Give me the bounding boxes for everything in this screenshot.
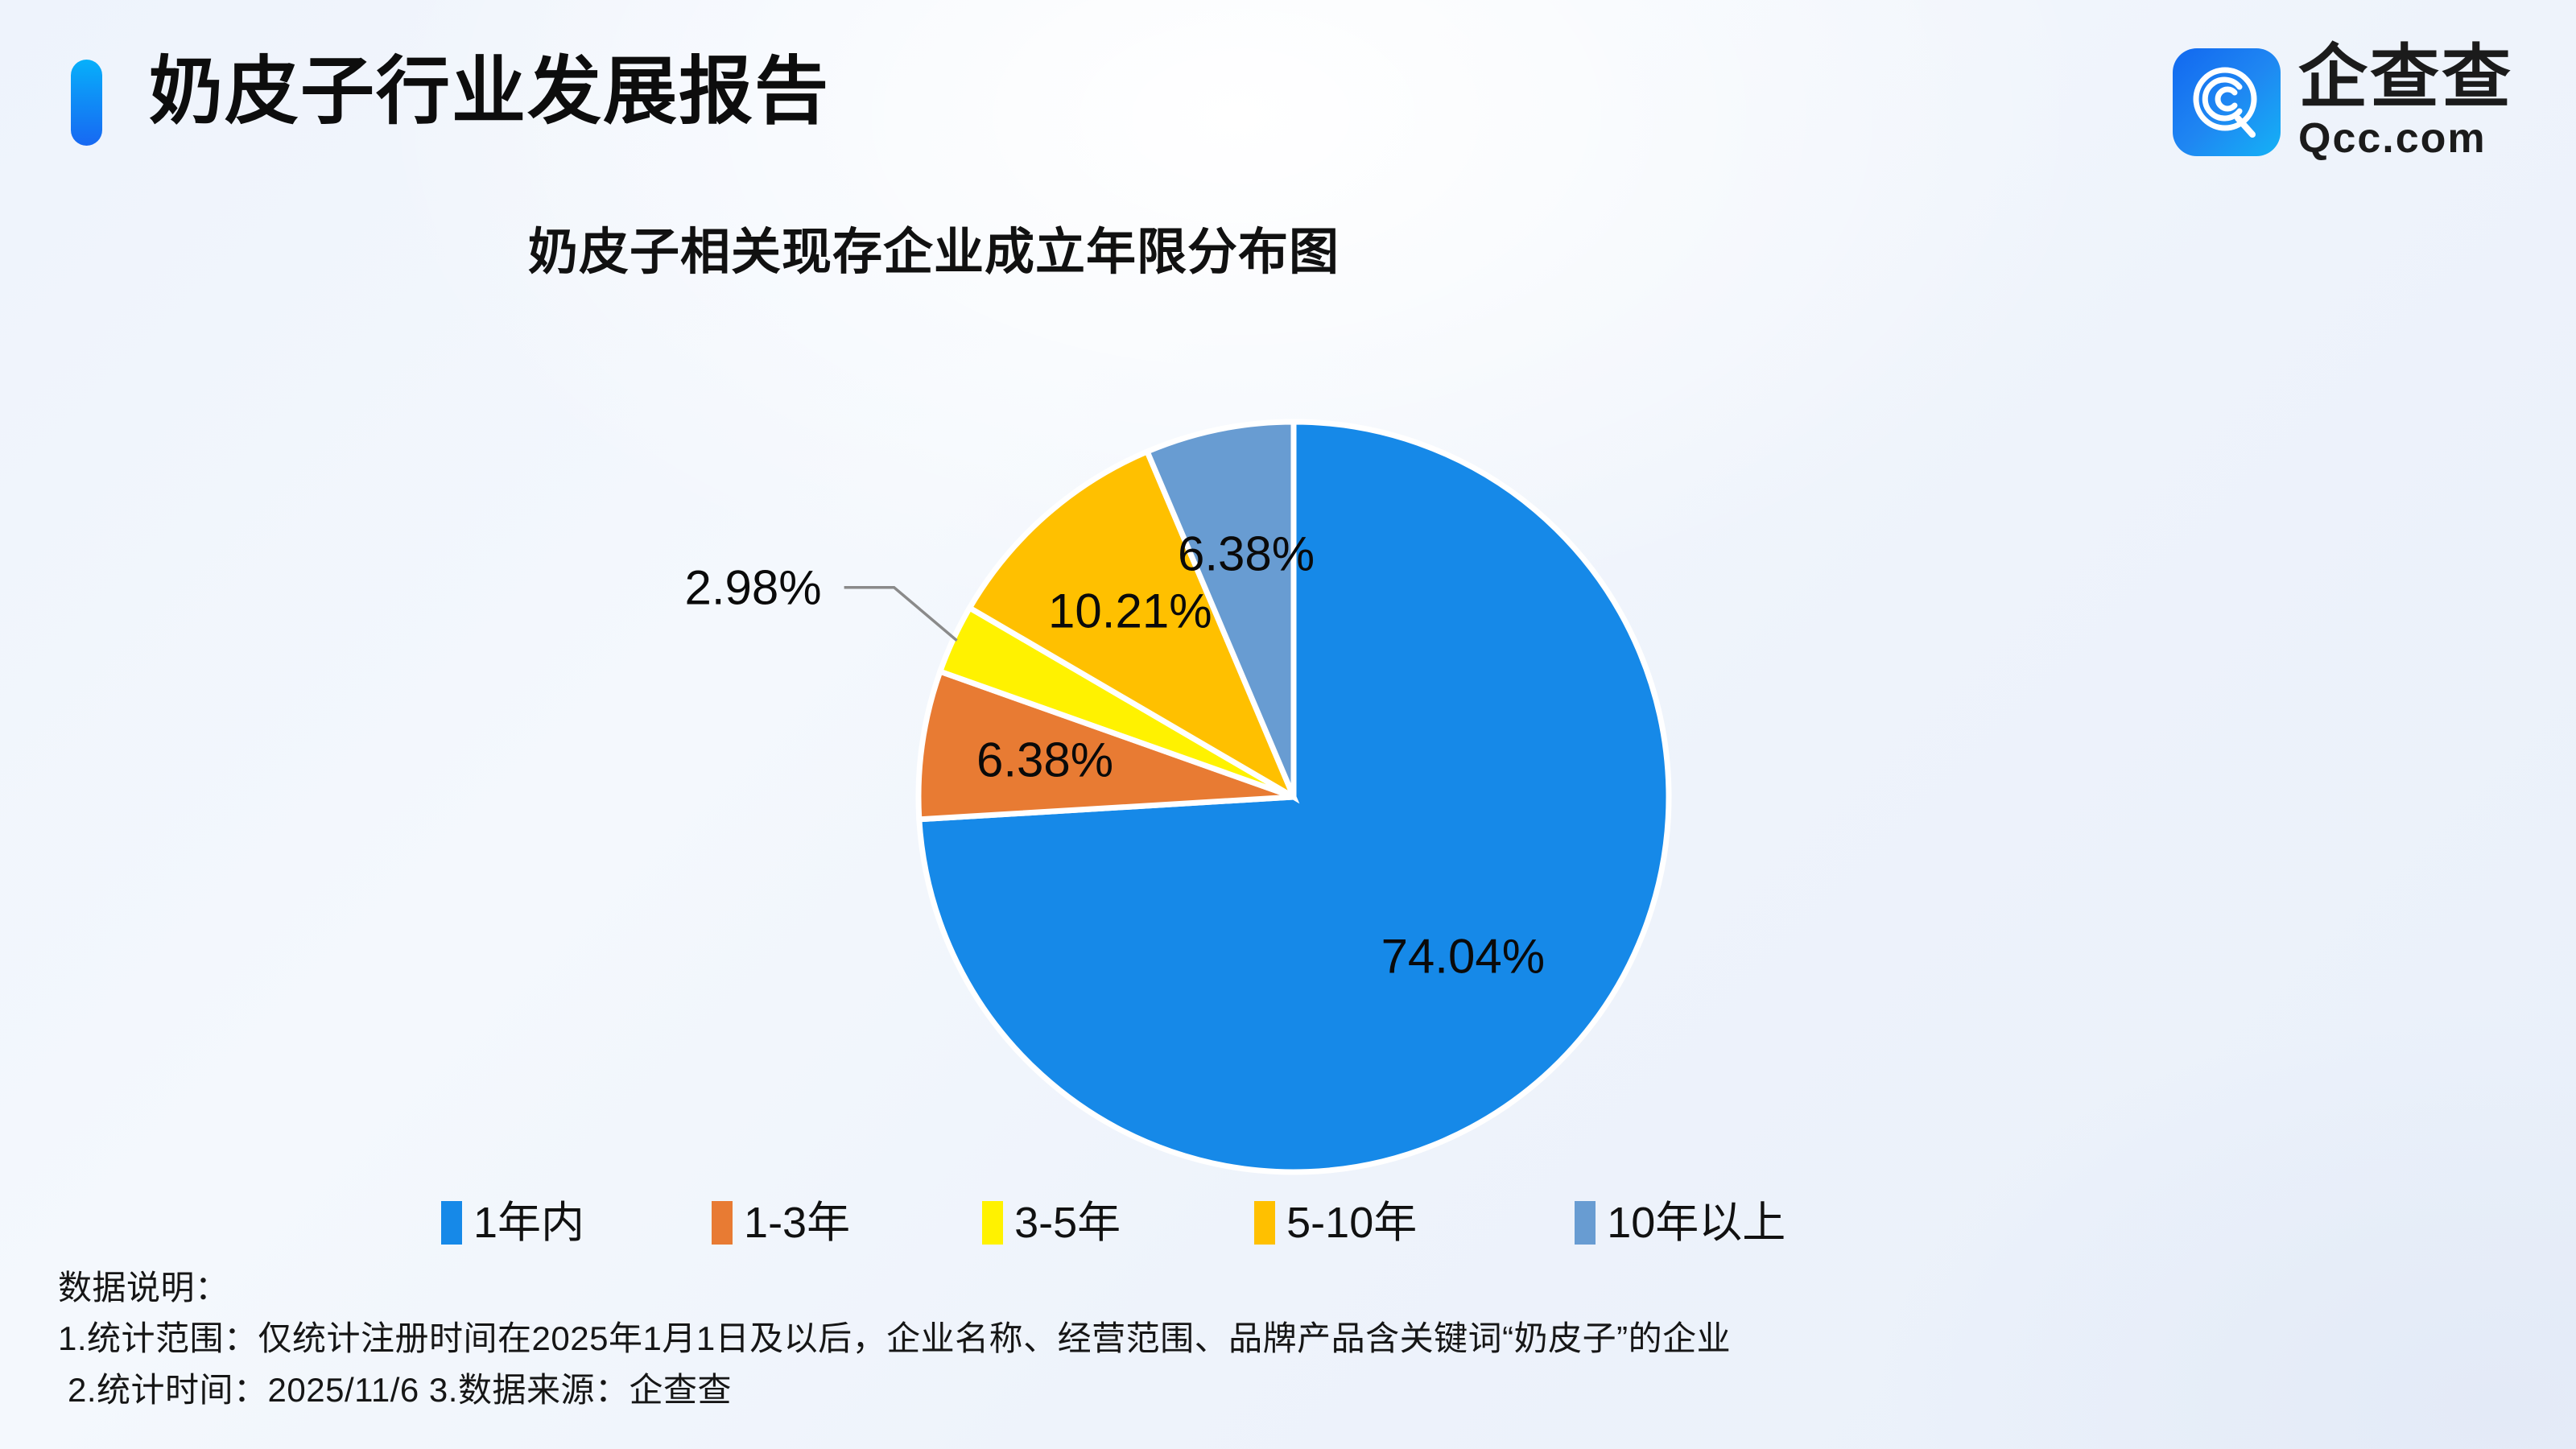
notes-heading: 数据说明： — [58, 1262, 2473, 1313]
legend-swatch-icon — [1254, 1201, 1275, 1245]
legend-item-5-10年[interactable]: 5-10年 — [1254, 1201, 1417, 1245]
note-line-2: 2.统计时间：2025/11/6 3.数据来源：企查查 — [58, 1364, 2473, 1416]
data-notes: 数据说明： 1.统计范围：仅统计注册时间在2025年1月1日及以后，企业名称、经… — [58, 1262, 2473, 1416]
note-line-1: 1.统计范围：仅统计注册时间在2025年1月1日及以后，企业名称、经营范围、品牌… — [58, 1313, 2473, 1364]
legend-label: 1年内 — [473, 1201, 584, 1245]
pie-slice-label: 2.98% — [684, 559, 821, 615]
legend-swatch-icon — [1575, 1201, 1596, 1245]
legend-label: 10年以上 — [1607, 1201, 1785, 1245]
legend-swatch-icon — [982, 1201, 1003, 1245]
legend-swatch-icon — [441, 1201, 462, 1245]
pie-slice-label: 6.38% — [1178, 526, 1315, 582]
legend-item-1-3年[interactable]: 1-3年 — [712, 1201, 850, 1245]
legend-label: 3-5年 — [1014, 1201, 1121, 1245]
pie-slice-label: 6.38% — [976, 733, 1113, 788]
legend-item-10年以上[interactable]: 10年以上 — [1575, 1201, 1785, 1245]
pie-label-leader-line — [844, 588, 957, 641]
legend-item-1年内[interactable]: 1年内 — [441, 1201, 584, 1245]
pie-slice-label: 74.04% — [1381, 929, 1546, 985]
legend-item-3-5年[interactable]: 3-5年 — [982, 1201, 1121, 1245]
chart-legend: 1年内1-3年3-5年5-10年10年以上 — [441, 1201, 1785, 1245]
report-canvas: 奶皮子行业发展报告 企查查 Qcc.com 奶皮子相关现存企业成立年限分布图 7… — [0, 0, 2576, 1449]
legend-label: 1-3年 — [744, 1201, 850, 1245]
legend-swatch-icon — [712, 1201, 733, 1245]
pie-slice-label: 10.21% — [1048, 584, 1212, 639]
legend-label: 5-10年 — [1286, 1201, 1417, 1245]
